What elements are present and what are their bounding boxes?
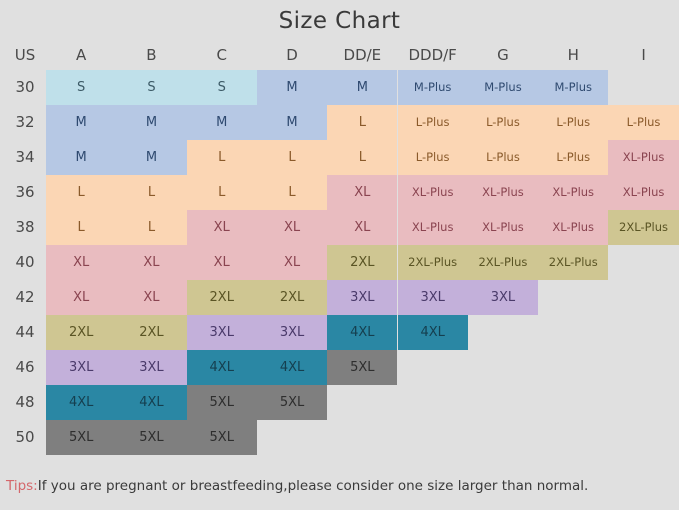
size-cell: M-Plus [398,70,468,105]
size-cell: XL [257,210,327,245]
row-label-us-42: 42 [4,280,46,315]
size-cell: 2XL [257,280,327,315]
size-cell: M-Plus [538,70,608,105]
size-cell: 5XL [257,385,327,420]
column-header-a: A [46,42,116,68]
size-cell: XL-Plus [608,175,678,210]
column-header-ddd-f: DDD/F [398,42,468,68]
size-cell: 5XL [187,420,257,455]
size-grid: 30SSSMMM-PlusM-PlusM-Plus32MMMMLL-PlusL-… [0,70,679,455]
size-cell: 3XL [46,350,116,385]
row-label-us-36: 36 [4,175,46,210]
size-cell: L-Plus [468,140,538,175]
size-cell: 3XL [327,280,397,315]
size-cell: 2XL [327,245,397,280]
size-cell: 4XL [257,350,327,385]
row-label-us-48: 48 [4,385,46,420]
size-cell: 3XL [257,315,327,350]
size-cell: 4XL [187,350,257,385]
size-cell: L-Plus [398,105,468,140]
size-cell: XL-Plus [468,210,538,245]
size-cell: 2XL-Plus [398,245,468,280]
size-cell: XL [46,245,116,280]
size-cell: XL-Plus [608,140,678,175]
size-cell: 3XL [398,280,468,315]
size-cell: L [327,140,397,175]
size-cell: 5XL [46,420,116,455]
row-label-us-38: 38 [4,210,46,245]
column-header-h: H [538,42,608,68]
size-cell: XL-Plus [538,210,608,245]
row-label-us-46: 46 [4,350,46,385]
size-cell: L [187,140,257,175]
size-cell: 4XL [327,315,397,350]
size-cell: L-Plus [538,140,608,175]
column-header-d: D [257,42,327,68]
size-cell: L [257,175,327,210]
size-cell: 4XL [116,385,186,420]
size-cell: S [116,70,186,105]
size-cell: 5XL [116,420,186,455]
tips-note: Tips:If you are pregnant or breastfeedin… [6,478,588,494]
size-cell: M [46,140,116,175]
size-cell: 2XL-Plus [608,210,678,245]
column-header-us: US [4,42,46,68]
column-header-i: I [608,42,678,68]
size-cell: 4XL [46,385,116,420]
size-cell: M [46,105,116,140]
size-cell: M [327,70,397,105]
size-cell: L [46,210,116,245]
page-title: Size Chart [0,8,679,34]
size-cell: 5XL [187,385,257,420]
row-label-us-44: 44 [4,315,46,350]
tips-text: If you are pregnant or breastfeeding,ple… [38,478,589,494]
size-cell: XL [46,280,116,315]
size-cell: XL [327,210,397,245]
size-cell: 4XL [398,315,468,350]
size-cell: L [46,175,116,210]
size-cell: 2XL [187,280,257,315]
size-cell: XL-Plus [398,210,468,245]
size-cell: L-Plus [538,105,608,140]
size-cell: M [116,105,186,140]
size-cell: XL-Plus [468,175,538,210]
size-cell: XL-Plus [398,175,468,210]
size-cell: XL-Plus [538,175,608,210]
size-chart-root: Size Chart USABCDDD/EDDD/FGHI 30SSSMMM-P… [0,0,679,510]
size-cell: M [116,140,186,175]
size-cell: XL [327,175,397,210]
size-cell: L-Plus [468,105,538,140]
size-cell: L [327,105,397,140]
size-cell: 3XL [187,315,257,350]
size-cell: M [257,105,327,140]
size-cell: L-Plus [398,140,468,175]
size-cell: L [257,140,327,175]
size-cell: 2XL [116,315,186,350]
size-cell: S [187,70,257,105]
column-header-dd-e: DD/E [327,42,397,68]
size-cell: 2XL [46,315,116,350]
size-cell: 2XL-Plus [538,245,608,280]
size-cell: L [116,210,186,245]
size-cell: XL [116,245,186,280]
column-header-row: USABCDDD/EDDD/FGHI [0,42,679,68]
size-cell: M-Plus [468,70,538,105]
row-label-us-32: 32 [4,105,46,140]
row-label-us-30: 30 [4,70,46,105]
tips-label: Tips: [6,478,38,494]
size-cell: L [116,175,186,210]
row-label-us-40: 40 [4,245,46,280]
size-cell: XL [187,210,257,245]
size-cell: 3XL [468,280,538,315]
column-header-g: G [468,42,538,68]
row-label-us-50: 50 [4,420,46,455]
size-cell: L [187,175,257,210]
size-cell: XL [116,280,186,315]
row-label-us-34: 34 [4,140,46,175]
column-header-b: B [116,42,186,68]
size-cell: L-Plus [608,105,678,140]
size-cell: M [257,70,327,105]
size-cell: M [187,105,257,140]
size-cell: XL [257,245,327,280]
column-header-c: C [187,42,257,68]
size-cell: S [46,70,116,105]
size-cell: 5XL [327,350,397,385]
size-cell: 3XL [116,350,186,385]
size-cell: XL [187,245,257,280]
size-cell: 2XL-Plus [468,245,538,280]
